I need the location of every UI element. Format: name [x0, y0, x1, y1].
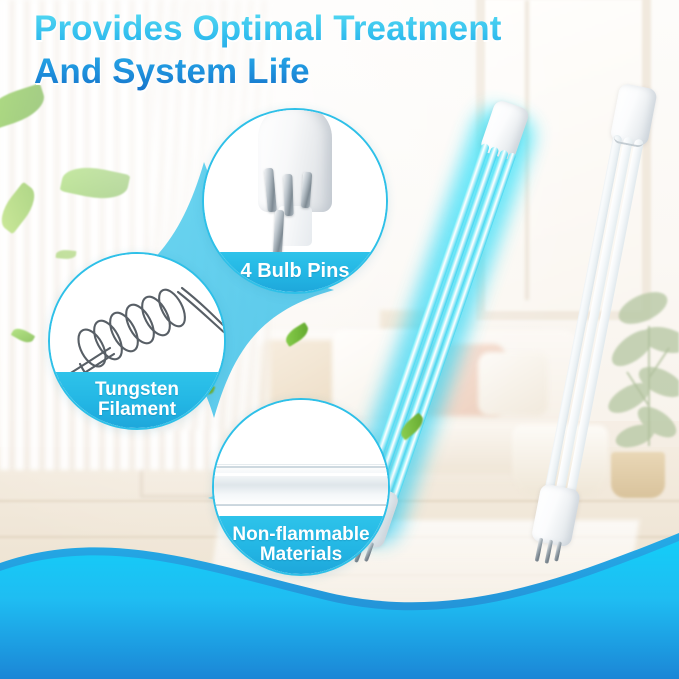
callout-tungsten-filament[interactable]: Tungsten Filament [48, 252, 226, 430]
quartz-tube-shape [214, 464, 388, 506]
callout-label-line: Filament [98, 400, 176, 420]
headline-line-2: And System Life [34, 51, 594, 94]
callout-label-tungsten-filament: Tungsten Filament [50, 372, 224, 428]
bottom-wave-decoration [0, 519, 679, 679]
callout-label-line: Tungsten [95, 380, 179, 400]
uv-tube [381, 149, 509, 501]
callout-label-line: 4 Bulb Pins [241, 261, 350, 282]
page-title: Provides Optimal Treatment And System Li… [34, 8, 594, 93]
headline-line-1: Provides Optimal Treatment [34, 8, 594, 51]
headline-text: Provides Optimal Treatment And System Li… [34, 8, 594, 93]
tube-seam [214, 466, 388, 468]
tube-seam [214, 504, 388, 506]
callout-label-bulb-pins: 4 Bulb Pins [204, 252, 386, 292]
callout-bulb-pins[interactable]: 4 Bulb Pins [202, 108, 388, 294]
bulb-pin [283, 174, 293, 216]
product-feature-banner: 4 Bulb Pins [0, 0, 679, 679]
uv-lamp-body [526, 84, 663, 555]
quartz-tube [554, 136, 633, 499]
bulb-pin [273, 210, 284, 258]
uv-lamp-unlit [520, 76, 679, 556]
